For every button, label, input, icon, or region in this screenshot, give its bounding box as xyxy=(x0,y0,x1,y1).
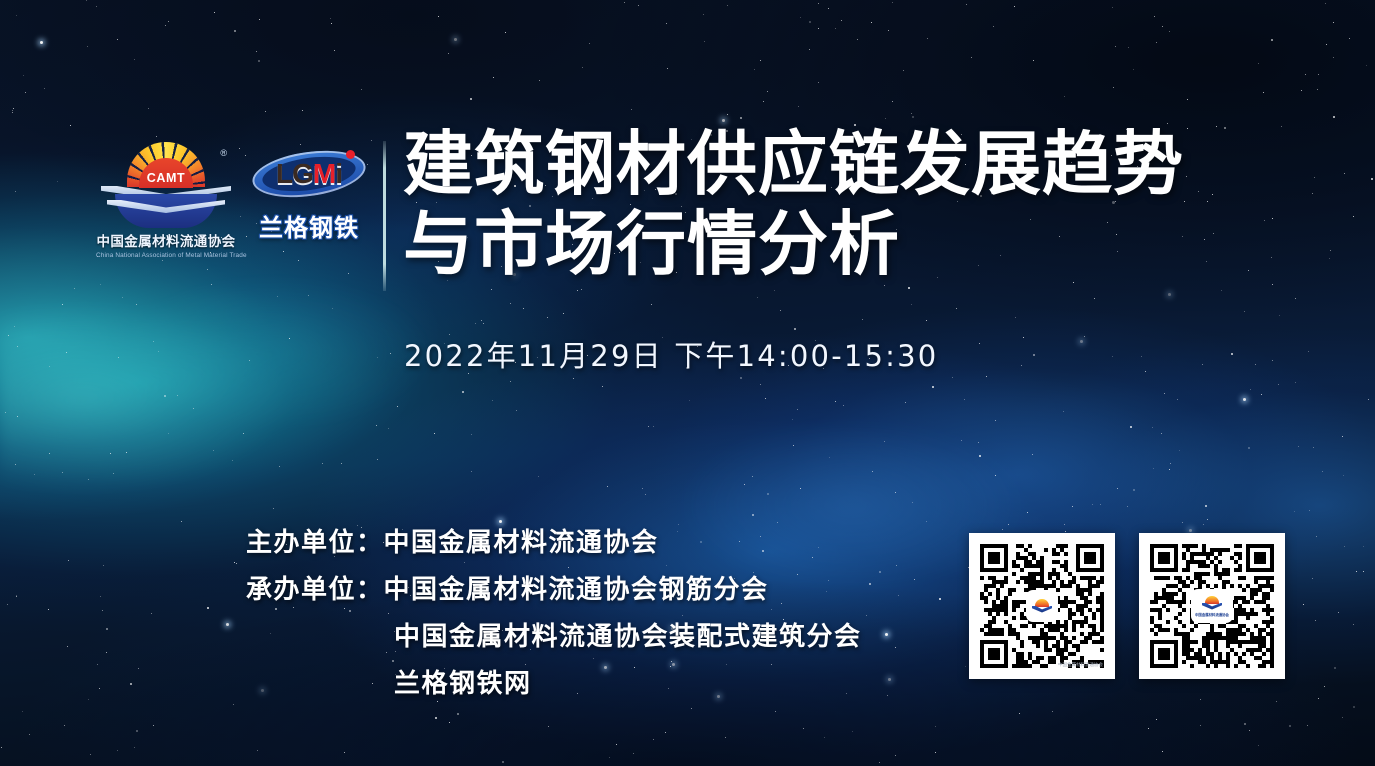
mini-sun-icon-2 xyxy=(1205,596,1219,604)
mini-wing-icon-2 xyxy=(1202,603,1222,610)
lgmi-letter-i: i xyxy=(335,158,342,189)
camt-sun-emblem-icon xyxy=(1032,599,1052,614)
lgmi-wordmark: LGMi xyxy=(250,154,368,194)
organizer-value-coorganizer-2: 中国金属材料流通协会装配式建筑分会 xyxy=(394,622,862,652)
qr-code-left-frame[interactable]: 中国金属材料流通协会 xyxy=(969,533,1115,679)
lgmi-name-cn: 兰格钢铁 xyxy=(250,208,368,243)
camt-logo: CAMT ® 中国金属材料流通协会 China National Associa… xyxy=(96,140,236,280)
qr-code-right[interactable]: 中国金属材料流通协会 xyxy=(1139,533,1285,679)
qr-code-left[interactable]: 中国金属材料流通协会 xyxy=(969,533,1115,679)
poster-title-line-1: 建筑钢材供应链发展趋势 xyxy=(403,124,1303,204)
organizer-row-coorganizer-2: 中国金属材料流通协会装配式建筑分会 xyxy=(246,614,1006,661)
organizer-value-host: 中国金属材料流通协会 xyxy=(384,528,659,558)
qr-center-logo-right: 中国金属材料流通协会 xyxy=(1193,591,1231,621)
qr-center-logo-left xyxy=(1028,592,1056,620)
camt-name-cn: 中国金属材料流通协会 xyxy=(96,230,236,250)
lgmi-badge-icon: LGMi xyxy=(250,146,368,204)
organizer-value-coorganizer-3: 兰格钢铁网 xyxy=(394,669,532,699)
title-divider xyxy=(383,141,386,291)
organizer-label-host: 主办单位： xyxy=(246,528,384,558)
lgmi-letter-m: M xyxy=(313,158,335,189)
qr-watermark-left: 中国金属材料流通协会 xyxy=(1058,662,1103,668)
organizer-row-coorganizer-3: 兰格钢铁网 xyxy=(246,661,1006,708)
registered-trademark-icon: ® xyxy=(220,148,227,158)
mini-sun-icon xyxy=(1035,599,1049,607)
organizer-row-host: 主办单位：中国金属材料流通协会 xyxy=(246,520,1006,567)
organizer-row-coorganizer-1: 承办单位：中国金属材料流通协会钢筋分会 xyxy=(246,567,1006,614)
event-poster: CAMT ® 中国金属材料流通协会 China National Associa… xyxy=(0,0,1375,766)
event-datetime: 2022年11月29日 下午14:00-15:30 xyxy=(404,333,938,375)
camt-emblem-icon: CAMT ® xyxy=(101,142,231,228)
camt-name-en: China National Association of Metal Mate… xyxy=(96,252,236,259)
lgmi-logo: LGMi 兰格钢铁 xyxy=(250,146,368,266)
organizer-value-coorganizer-1: 中国金属材料流通协会钢筋分会 xyxy=(384,575,769,605)
lgmi-dot-icon xyxy=(346,150,355,159)
logo-group: CAMT ® 中国金属材料流通协会 China National Associa… xyxy=(96,140,366,290)
organizer-label-coorganizer: 承办单位： xyxy=(246,575,384,605)
lgmi-letter-g: G xyxy=(292,158,313,189)
camt-full-emblem-icon xyxy=(1202,596,1222,611)
poster-title: 建筑钢材供应链发展趋势 与市场行情分析 xyxy=(403,124,1303,284)
lgmi-letter-l: L xyxy=(276,158,292,189)
organizer-block: 主办单位：中国金属材料流通协会 承办单位：中国金属材料流通协会钢筋分会 中国金属… xyxy=(246,520,1006,708)
qr-center-logo-caption: 中国金属材料流通协会 xyxy=(1195,612,1229,617)
qr-code-right-frame[interactable]: 中国金属材料流通协会 xyxy=(1139,533,1285,679)
mini-wing-icon xyxy=(1032,606,1052,613)
poster-title-line-2: 与市场行情分析 xyxy=(403,204,1303,284)
